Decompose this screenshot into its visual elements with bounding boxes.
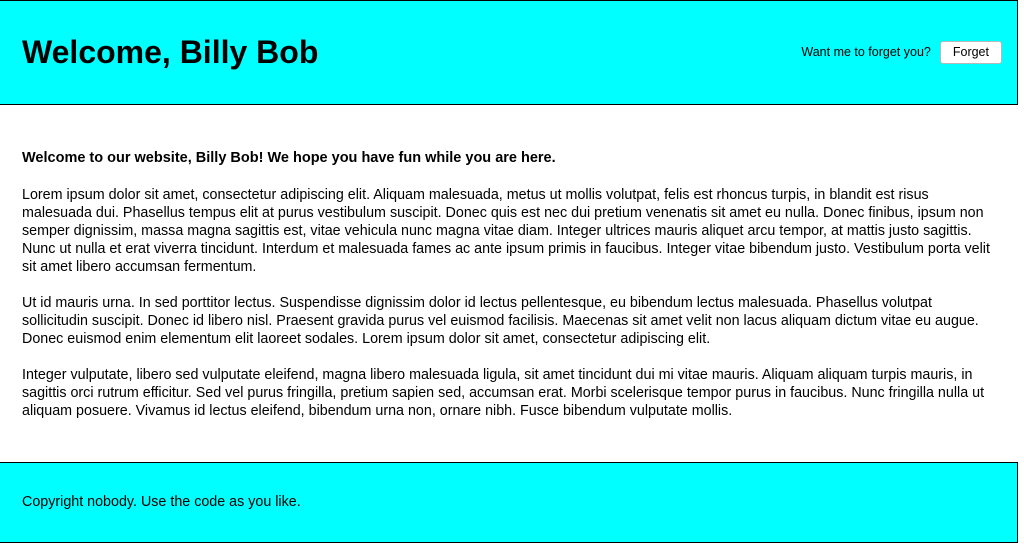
forget-controls: Want me to forget you? Forget	[801, 41, 1009, 65]
header-banner: Welcome, Billy Bob Want me to forget you…	[0, 0, 1018, 105]
body-paragraph: Ut id mauris urna. In sed porttitor lect…	[22, 294, 998, 348]
body-paragraph: Lorem ipsum dolor sit amet, consectetur …	[22, 186, 998, 276]
forget-prompt-label: Want me to forget you?	[801, 46, 930, 59]
page-root: Welcome, Billy Bob Want me to forget you…	[0, 0, 1024, 550]
footer-banner: Copyright nobody. Use the code as you li…	[0, 462, 1018, 543]
page-title: Welcome, Billy Bob	[22, 35, 318, 70]
body-paragraph: Integer vulputate, libero sed vulputate …	[22, 366, 998, 420]
welcome-message: Welcome to our website, Billy Bob! We ho…	[22, 149, 998, 167]
copyright-text: Copyright nobody. Use the code as you li…	[22, 494, 301, 511]
main-content: Welcome to our website, Billy Bob! We ho…	[0, 105, 1024, 462]
forget-button[interactable]: Forget	[940, 41, 1002, 65]
